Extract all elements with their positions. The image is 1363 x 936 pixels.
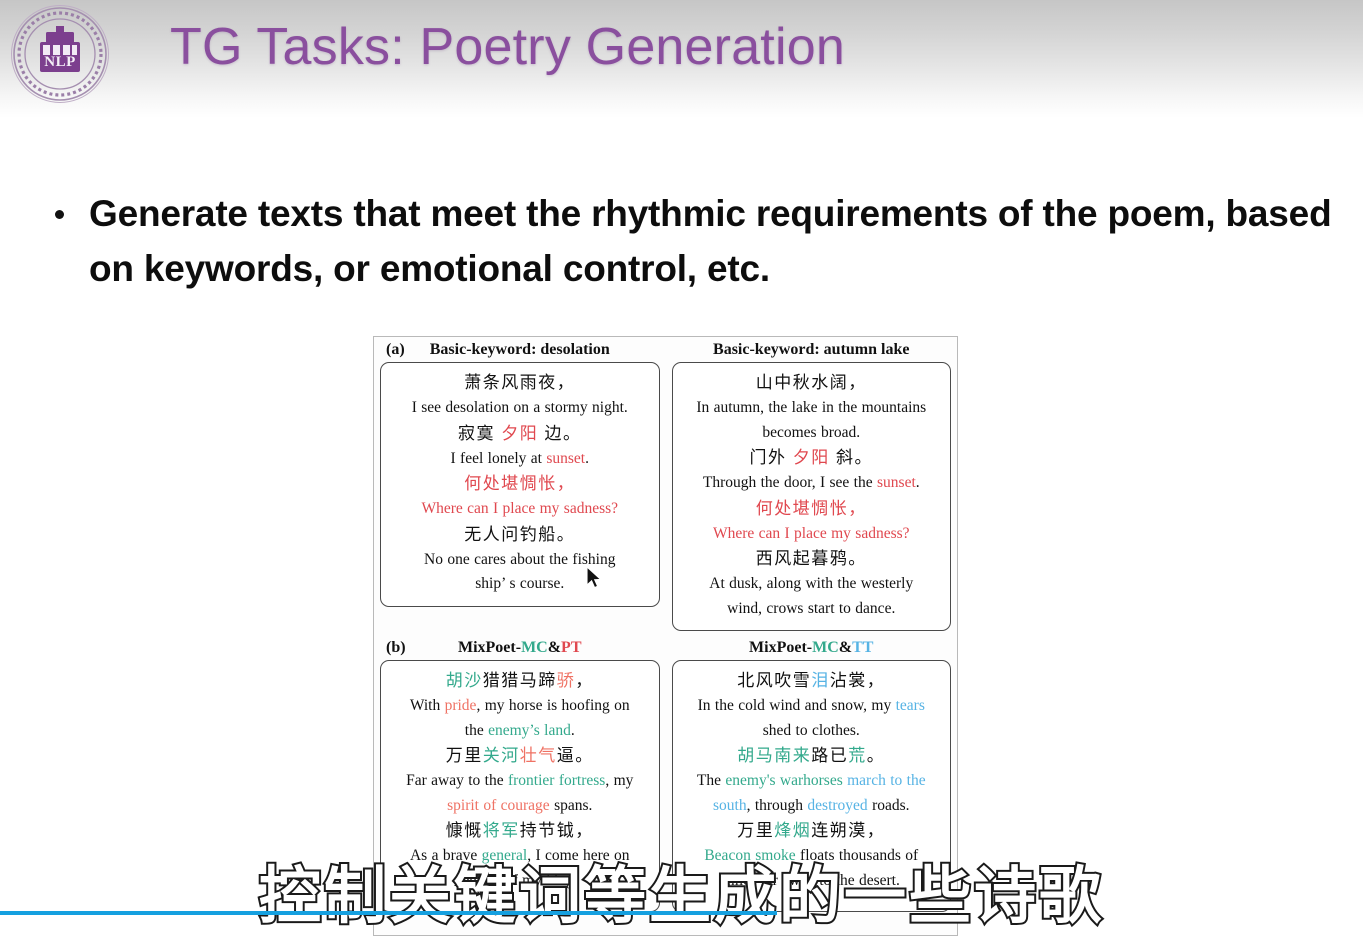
panel-c-heading-seg-amp: & [548,639,561,656]
poem-seg: 猎猎马蹄 [483,671,557,690]
bullet-text: Generate texts that meet the rhythmic re… [89,186,1355,296]
panel-d-heading-seg-tt: TT [852,639,873,656]
poem-seg: 万里 [446,746,483,765]
panel-c-heading-seg-pt: PT [561,639,581,656]
poem-box-a-left: 萧条风雨夜， I see desolation on a stormy nigh… [380,362,660,607]
poem-seg-highlight: sunset [877,474,916,491]
poem-line: 胡沙猎猎马蹄骄， [389,668,651,694]
poem-line: shed to clothes. [681,719,943,744]
poem-seg: 边。 [538,424,581,443]
poem-seg-highlight: 壮气 [520,746,557,765]
poem-seg-highlight: 将军 [483,821,520,840]
poem-seg-highlight: enemy's warhorses [725,772,842,789]
poem-line: 万里关河壮气逼。 [389,743,651,769]
poem-line: 山中秋水阔， [681,370,943,396]
panel-c-heading-seg: MixPoet- [458,639,521,656]
video-progress-fill [0,911,777,915]
poem-box-a-right: 山中秋水阔， In autumn, the lake in the mounta… [672,362,952,631]
panel-d-heading-seg-mc: MC [812,639,839,656]
panel-c-heading: (b) MixPoet-MC&PT [380,635,660,660]
poem-seg: 斜。 [830,448,873,467]
poem-seg: . [571,722,575,739]
svg-text:NLP: NLP [44,54,76,70]
poem-line: At dusk, along with the westerly [681,572,943,597]
poem-seg: 。 [867,746,886,765]
poem-seg: . [585,450,589,467]
poem-seg: 路已 [811,746,848,765]
poem-seg-highlight: 烽烟 [774,821,811,840]
poem-seg-highlight: 夕阳 [793,448,830,467]
poem-seg: In the cold wind and snow, my [698,697,896,714]
poem-line: Far away to the frontier fortress, my [389,769,651,794]
poem-line: I see desolation on a stormy night. [389,396,651,421]
figure-row-a: (a) Basic-keyword: desolation 萧条风雨夜， I s… [374,337,957,631]
poem-line: Where can I place my sadness? [681,522,943,547]
poem-line: ship’ s course. [389,572,651,597]
poem-seg-highlight: march to the [843,772,926,789]
poem-seg: spans. [550,797,593,814]
poem-line: 胡马南来路已荒。 [681,743,943,769]
slide-header: NLP TG Tasks: Poetry Generation [0,0,1363,118]
poem-line: In autumn, the lake in the mountains [681,396,943,421]
poem-line: wind, crows start to dance. [681,597,943,622]
poem-seg: , my [605,772,633,789]
panel-b-heading: Basic-keyword: autumn lake [672,337,952,362]
poem-seg: Through the door, I see the [703,474,877,491]
video-progress-bar[interactable] [0,911,1363,915]
poem-seg-highlight: 骄 [557,671,576,690]
figure-panel-a-left: (a) Basic-keyword: desolation 萧条风雨夜， I s… [374,337,666,631]
poem-seg-highlight: 胡沙 [446,671,483,690]
poem-line: 萧条风雨夜， [389,370,651,396]
poem-seg: , my horse is hoofing on [476,697,629,714]
poem-seg-highlight: 泪 [811,671,830,690]
poem-seg: 沾裳， [830,671,886,690]
poem-seg: Far away to the [406,772,508,789]
poem-seg: 门外 [750,448,793,467]
poem-line: 何处堪惆怅， [681,496,943,522]
panel-a-heading: (a) Basic-keyword: desolation [380,337,660,362]
poem-line: Through the door, I see the sunset. [681,471,943,496]
panel-a-heading-text: Basic-keyword: desolation [430,341,610,358]
poem-seg-highlight: 夕阳 [501,424,538,443]
poem-seg-highlight: sunset [546,450,585,467]
poem-line: becomes broad. [681,421,943,446]
poem-line: 寂寞 夕阳 边。 [389,421,651,447]
poem-seg: With [410,697,445,714]
poem-seg-highlight: tears [896,697,925,714]
poem-seg-highlight: spirit of courage [447,797,550,814]
poem-seg-highlight: south [713,797,747,814]
video-subtitle: 控制关键词等生成的一些诗歌 [0,860,1363,932]
poem-line: 无人问钓船。 [389,522,651,548]
poem-seg: The [697,772,725,789]
panel-a-tag: (a) [386,341,405,359]
figure-panel-a-right: Basic-keyword: autumn lake 山中秋水阔， In aut… [666,337,958,631]
panel-d-heading-seg-amp: & [839,639,852,656]
bullet-block: Generate texts that meet the rhythmic re… [55,186,1355,296]
poem-seg: . [916,474,920,491]
poem-line: In the cold wind and snow, my tears [681,694,943,719]
panel-d-heading-seg: MixPoet- [749,639,812,656]
panel-c-tag: (b) [386,639,406,657]
poem-line: 西风起暮鸦。 [681,546,943,572]
poem-line: 门外 夕阳 斜。 [681,445,943,471]
poem-line: 慷慨将军持节钺， [389,818,651,844]
poem-line: With pride, my horse is hoofing on [389,694,651,719]
poem-line: 何处堪惆怅， [389,471,651,497]
poem-seg: roads. [868,797,910,814]
poem-seg-highlight: 胡马南来 [737,746,811,765]
poem-line: spirit of courage spans. [389,794,651,819]
poem-seg: 北风吹雪 [737,671,811,690]
page-title: TG Tasks: Poetry Generation [170,14,845,80]
poem-seg-highlight: enemy’s land [488,722,571,739]
bullet-dot-icon [55,210,64,219]
poem-seg: 万里 [737,821,774,840]
poem-seg-highlight: 关河 [483,746,520,765]
poem-seg-highlight: frontier fortress [508,772,605,789]
panel-d-heading: MixPoet-MC&TT [672,635,952,660]
poem-seg: I feel lonely at [451,450,547,467]
poem-seg-highlight: 荒 [848,746,867,765]
poem-seg-highlight: destroyed [807,797,867,814]
poem-line: The enemy's warhorses march to the [681,769,943,794]
poem-line: 万里烽烟连朔漠， [681,818,943,844]
nlp-lab-seal-logo: NLP [10,4,110,104]
poem-seg: 慷慨 [446,821,483,840]
poem-line: 北风吹雪泪沾裳， [681,668,943,694]
panel-c-heading-seg-mc: MC [521,639,548,656]
poem-line: south, through destroyed roads. [681,794,943,819]
panel-b-heading-text: Basic-keyword: autumn lake [713,341,909,358]
poem-seg: 逼。 [557,746,594,765]
poetry-examples-figure: (a) Basic-keyword: desolation 萧条风雨夜， I s… [373,336,958,936]
poem-seg-highlight: pride [445,697,477,714]
poem-line: the enemy’s land. [389,719,651,744]
poem-line: I feel lonely at sunset. [389,447,651,472]
poem-seg: 寂寞 [458,424,501,443]
poem-seg: 持节钺， [520,821,594,840]
poem-seg: , through [747,797,808,814]
poem-line: No one cares about the fishing [389,548,651,573]
poem-seg: 连朔漠， [811,821,885,840]
poem-seg: the [465,722,488,739]
poem-seg: ， [575,671,594,690]
poem-line: Where can I place my sadness? [389,497,651,522]
